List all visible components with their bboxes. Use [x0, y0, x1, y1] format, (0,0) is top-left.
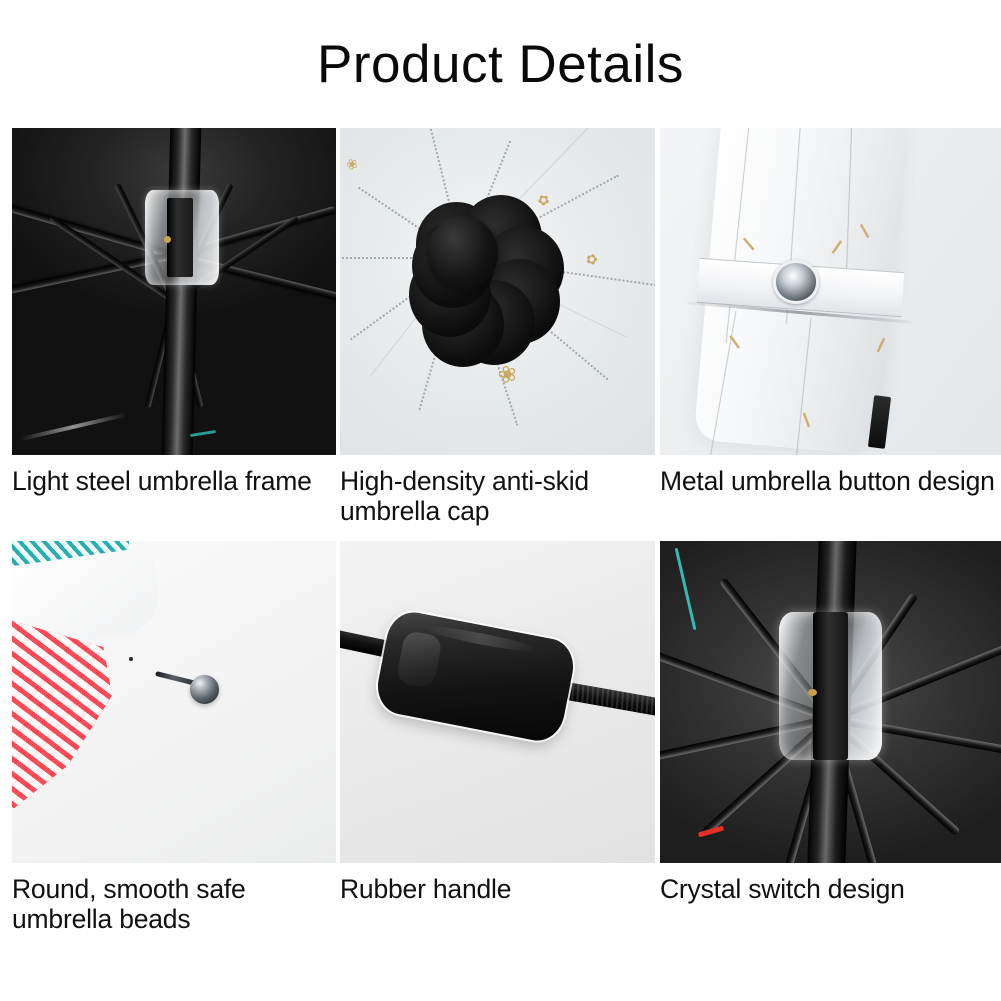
umbrella-bead [190, 675, 219, 704]
detail-tile-high-density-anti-skid-umbrella-cap[interactable]: ❀ ✿ ✿ ❀ High-density anti-skid umbrella … [340, 128, 655, 527]
detail-tile-rubber-handle[interactable]: Rubber handle [340, 541, 655, 905]
crystal-runner [145, 190, 220, 285]
metal-umbrella-button[interactable] [773, 260, 820, 304]
detail-tile-round-smooth-safe-umbrella-beads[interactable]: Round, smooth safe umbrella beads [12, 541, 336, 935]
detail-caption: Rubber handle [340, 875, 655, 905]
product-details-grid: Light steel umbrella frame [0, 128, 1001, 951]
light-steel-umbrella-frame-photo[interactable] [12, 128, 336, 455]
detail-caption: Light steel umbrella frame [12, 467, 336, 497]
detail-tile-metal-umbrella-button-design[interactable]: ❙ ❙ ❙ ❙ ❙ ❙ Metal umbrella button design [660, 128, 1001, 497]
crystal-switch[interactable] [779, 612, 881, 760]
detail-tile-light-steel-umbrella-frame[interactable]: Light steel umbrella frame [12, 128, 336, 497]
detail-caption: High-density anti-skid umbrella cap [340, 467, 655, 527]
handle-cord-right [566, 683, 655, 720]
detail-caption: Round, smooth safe umbrella beads [12, 875, 336, 935]
rubber-handle-grip [373, 608, 578, 745]
dragonfly-motif-icon: ❀ [344, 156, 361, 174]
metal-umbrella-button-design-photo[interactable]: ❙ ❙ ❙ ❙ ❙ ❙ [660, 128, 1001, 455]
dragonfly-motif-icon: ✿ [535, 191, 553, 209]
umbrella-shaft [161, 128, 201, 455]
detail-row-1: Light steel umbrella frame [0, 128, 1001, 538]
crystal-switch-design-photo[interactable] [660, 541, 1001, 863]
page-title: Product Details [0, 38, 1001, 91]
dragonfly-motif-icon: ✿ [584, 251, 599, 268]
dragonfly-motif-icon: ❀ [494, 361, 519, 389]
round-smooth-safe-umbrella-beads-photo[interactable] [12, 541, 336, 863]
detail-tile-crystal-switch-design[interactable]: Crystal switch design [660, 541, 1001, 905]
detail-caption: Crystal switch design [660, 875, 1001, 905]
rubber-handle-photo[interactable] [340, 541, 655, 863]
anti-skid-umbrella-cap [427, 216, 498, 291]
high-density-anti-skid-umbrella-cap-photo[interactable]: ❀ ✿ ✿ ❀ [340, 128, 655, 455]
detail-row-2: Round, smooth safe umbrella beads Rubber… [0, 541, 1001, 951]
detail-caption: Metal umbrella button design [660, 467, 1001, 497]
